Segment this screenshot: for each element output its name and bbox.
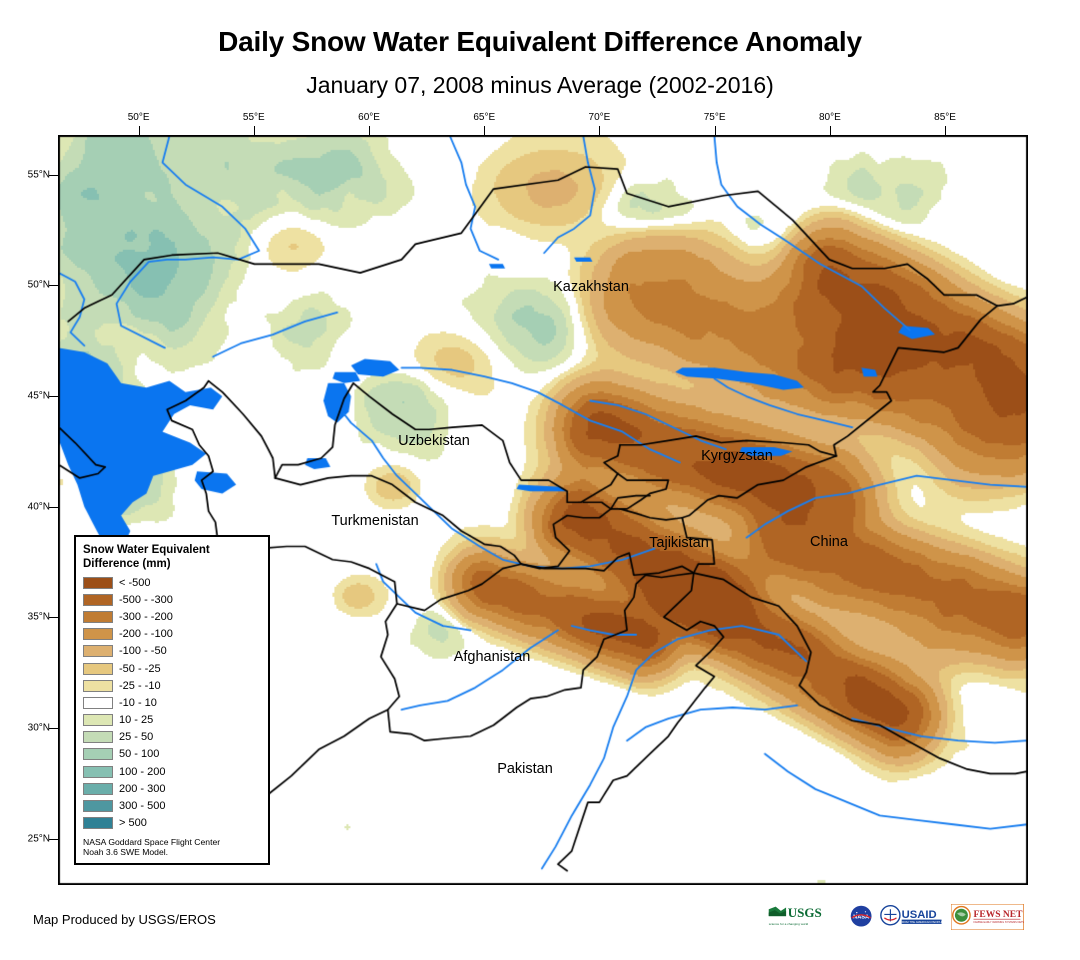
svg-text:USAID: USAID — [902, 909, 937, 921]
legend-class-row: 50 - 100 — [83, 746, 261, 763]
lat-tick-label: 55°N — [14, 169, 50, 180]
lat-tick-mark — [49, 396, 58, 397]
map-credit: Map Produced by USGS/EROS — [33, 912, 216, 927]
usaid-logo: USAID FROM THE AMERICAN PEOPLE — [880, 904, 944, 930]
legend-class-row: -100 - -50 — [83, 643, 261, 660]
legend-class-row: -10 - 10 — [83, 694, 261, 711]
lon-tick-mark — [254, 126, 255, 135]
legend-class-row: -200 - -100 — [83, 626, 261, 643]
svg-text:FEWS NET: FEWS NET — [974, 910, 1024, 920]
lon-tick-label: 65°E — [473, 112, 495, 123]
legend-class-label: -500 - -300 — [119, 594, 173, 606]
legend-class-label: -10 - 10 — [119, 697, 157, 709]
legend-class-row: 300 - 500 — [83, 797, 261, 814]
lon-tick-mark — [369, 126, 370, 135]
legend-color-swatch — [83, 748, 113, 760]
lon-tick-label: 50°E — [128, 112, 150, 123]
svg-text:USGS: USGS — [788, 905, 822, 920]
lon-tick-mark — [830, 126, 831, 135]
legend-class-list: < -500-500 - -300-300 - -200-200 - -100-… — [83, 574, 261, 832]
page-subtitle: January 07, 2008 minus Average (2002-201… — [0, 72, 1080, 99]
legend-color-swatch — [83, 783, 113, 795]
nasa-logo: NASA — [849, 904, 873, 930]
lat-tick-label: 35°N — [14, 612, 50, 623]
legend-color-swatch — [83, 645, 113, 657]
legend-source-note: NASA Goddard Space Flight Center Noah 3.… — [83, 837, 261, 858]
legend-class-label: 25 - 50 — [119, 731, 153, 743]
lon-tick-mark — [599, 126, 600, 135]
svg-text:science for a changing world: science for a changing world — [769, 922, 809, 926]
lon-tick-mark — [715, 126, 716, 135]
lat-tick-label: 50°N — [14, 280, 50, 291]
legend-class-label: > 500 — [119, 817, 147, 829]
legend-class-row: 200 - 300 — [83, 780, 261, 797]
legend-class-row: 10 - 25 — [83, 712, 261, 729]
legend-class-row: > 500 — [83, 815, 261, 832]
legend-color-swatch — [83, 800, 113, 812]
legend-class-row: -500 - -300 — [83, 591, 261, 608]
lat-tick-mark — [49, 285, 58, 286]
legend-class-label: -100 - -50 — [119, 645, 167, 657]
legend-color-swatch — [83, 680, 113, 692]
page-title: Daily Snow Water Equivalent Difference A… — [0, 26, 1080, 58]
lon-tick-label: 85°E — [934, 112, 956, 123]
lat-tick-label: 45°N — [14, 391, 50, 402]
lat-tick-mark — [49, 507, 58, 508]
svg-text:FROM THE AMERICAN PEOPLE: FROM THE AMERICAN PEOPLE — [900, 920, 943, 924]
legend-class-label: 100 - 200 — [119, 766, 165, 778]
legend-class-label: 300 - 500 — [119, 800, 165, 812]
lon-tick-mark — [945, 126, 946, 135]
legend-class-label: 50 - 100 — [119, 748, 159, 760]
legend-color-swatch — [83, 594, 113, 606]
lon-tick-mark — [484, 126, 485, 135]
lat-tick-mark — [49, 175, 58, 176]
legend-class-label: 10 - 25 — [119, 714, 153, 726]
lat-tick-label: 30°N — [14, 722, 50, 733]
legend-class-label: -200 - -100 — [119, 628, 173, 640]
lon-tick-label: 75°E — [704, 112, 726, 123]
lat-tick-mark — [49, 728, 58, 729]
legend-color-swatch — [83, 731, 113, 743]
lon-tick-label: 60°E — [358, 112, 380, 123]
lat-tick-label: 25°N — [14, 833, 50, 844]
legend-color-swatch — [83, 817, 113, 829]
legend-class-label: -50 - -25 — [119, 663, 161, 675]
legend-color-swatch — [83, 663, 113, 675]
legend-color-swatch — [83, 577, 113, 589]
legend-class-label: < -500 — [119, 577, 151, 589]
fewsnet-logo: FEWS NET FAMINE EARLY WARNING SYSTEMS NE… — [951, 904, 1024, 930]
legend-class-row: -300 - -200 — [83, 608, 261, 625]
map-legend: Snow Water Equivalent Difference (mm) < … — [74, 535, 270, 865]
agency-logo-row: USGS science for a changing world NASA U… — [767, 903, 1024, 931]
usgs-logo: USGS science for a changing world — [767, 904, 842, 930]
lon-tick-mark — [139, 126, 140, 135]
legend-color-swatch — [83, 697, 113, 709]
legend-class-row: -25 - -10 — [83, 677, 261, 694]
legend-class-label: 200 - 300 — [119, 783, 165, 795]
lat-tick-label: 40°N — [14, 501, 50, 512]
svg-text:FAMINE EARLY WARNING SYSTEMS N: FAMINE EARLY WARNING SYSTEMS NETWORK — [974, 921, 1024, 924]
lon-tick-label: 80°E — [819, 112, 841, 123]
legend-class-row: < -500 — [83, 574, 261, 591]
lon-tick-label: 70°E — [589, 112, 611, 123]
lon-tick-label: 55°E — [243, 112, 265, 123]
legend-color-swatch — [83, 714, 113, 726]
legend-class-label: -300 - -200 — [119, 611, 173, 623]
legend-title: Snow Water Equivalent Difference (mm) — [83, 543, 261, 571]
legend-class-row: 100 - 200 — [83, 763, 261, 780]
lat-tick-mark — [49, 617, 58, 618]
legend-color-swatch — [83, 611, 113, 623]
lat-tick-mark — [49, 839, 58, 840]
legend-color-swatch — [83, 766, 113, 778]
legend-class-label: -25 - -10 — [119, 680, 161, 692]
legend-color-swatch — [83, 628, 113, 640]
legend-class-row: 25 - 50 — [83, 729, 261, 746]
legend-class-row: -50 - -25 — [83, 660, 261, 677]
